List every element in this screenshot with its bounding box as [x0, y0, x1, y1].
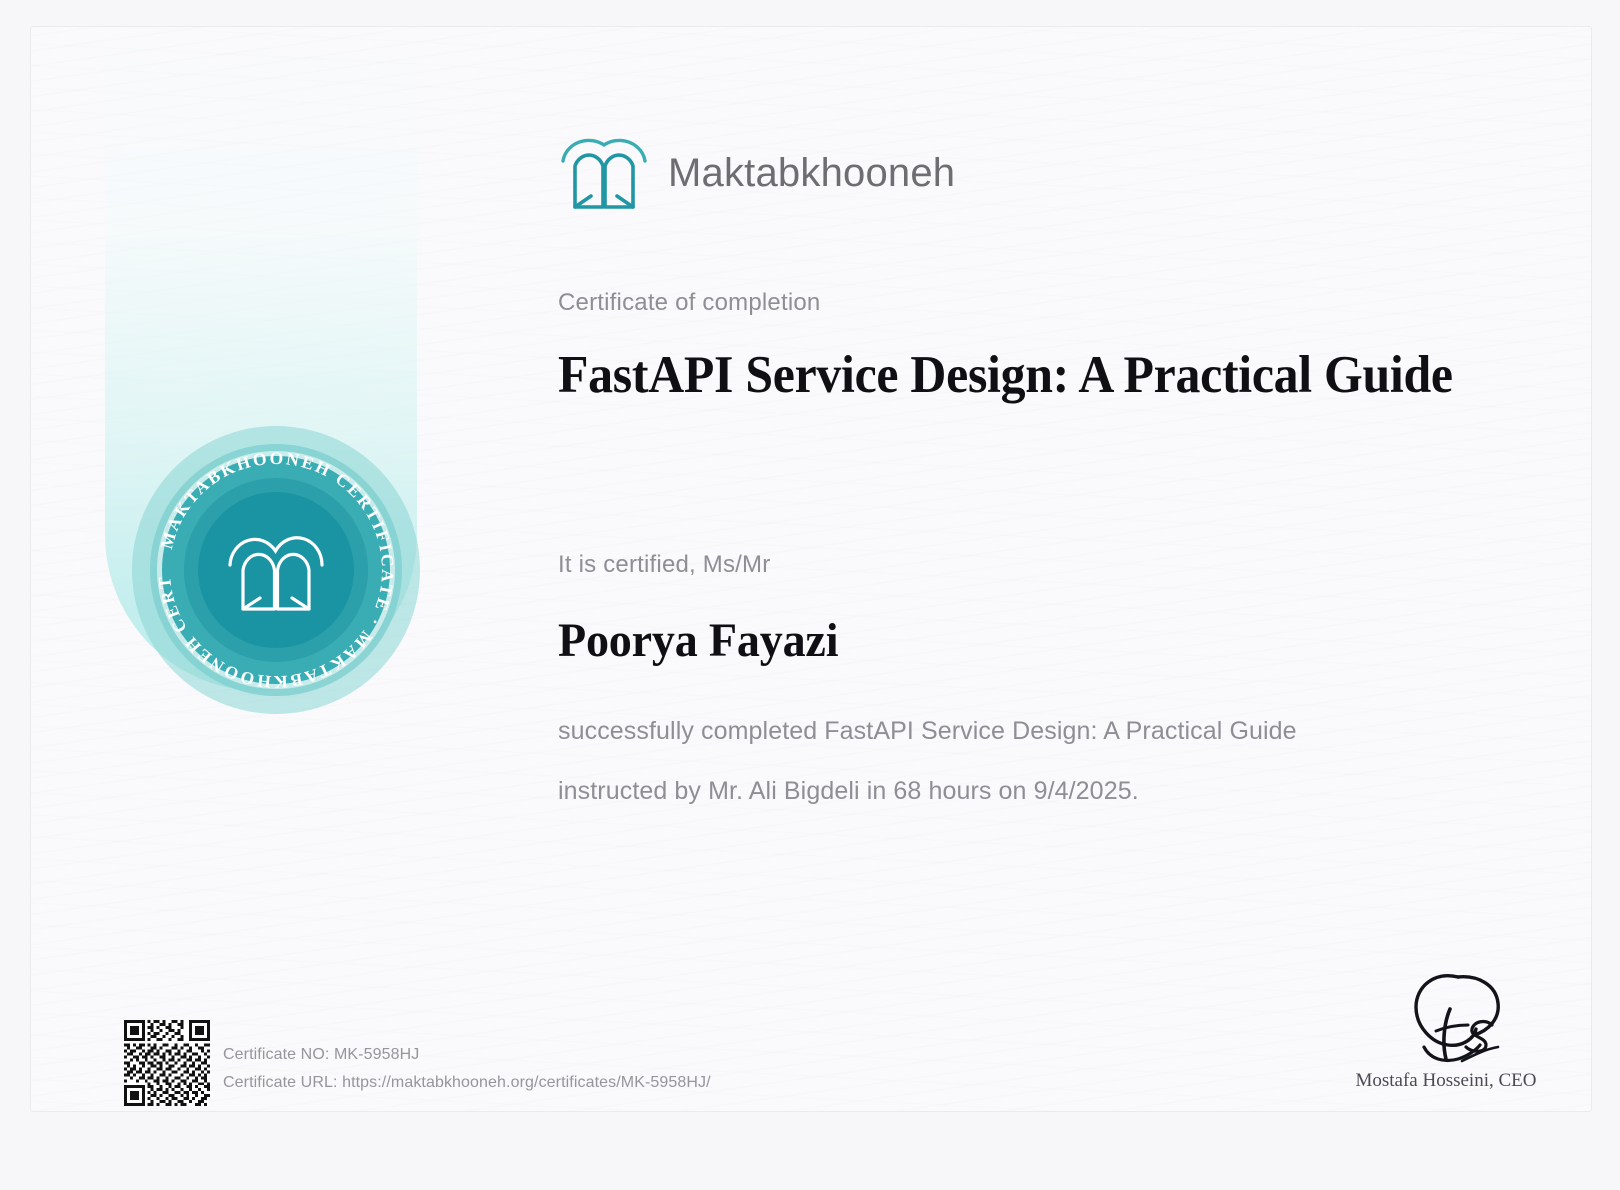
qr-code-icon[interactable] [124, 1020, 210, 1106]
signature-block: Mostafa Hosseini, CEO [1321, 943, 1571, 1092]
brand-wordmark: Maktabkhooneh [668, 151, 955, 196]
certificate-meta: Certificate NO: MK-5958HJ Certificate UR… [223, 1041, 711, 1097]
certified-label: It is certified, Ms/Mr [558, 551, 770, 579]
course-title: FastAPI Service Design: A Practical Guid… [558, 345, 1453, 405]
completion-line-2: instructed by Mr. Ali Bigdeli in 68 hour… [558, 777, 1139, 806]
completion-line-1: successfully completed FastAPI Service D… [558, 717, 1297, 746]
certificate-page: MAKTABKHOONEH CERTIFICATE · MAKTABKHOONE… [0, 0, 1620, 1190]
certificate-subtitle: Certificate of completion [558, 289, 820, 317]
open-book-mark-icon [558, 135, 650, 211]
brand-logo: Maktabkhooneh [558, 135, 955, 211]
handwritten-signature-icon [1346, 943, 1546, 1068]
certificate-number-line: Certificate NO: MK-5958HJ [223, 1041, 711, 1069]
recipient-name: Poorya Fayazi [558, 613, 838, 668]
certificate-url-line[interactable]: Certificate URL: https://maktabkhooneh.o… [223, 1069, 711, 1097]
certificate-card: MAKTABKHOONEH CERTIFICATE · MAKTABKHOONE… [30, 26, 1592, 1112]
signature-caption: Mostafa Hosseini, CEO [1321, 1070, 1571, 1092]
certificate-seal: MAKTABKHOONEH CERTIFICATE · MAKTABKHOONE… [131, 425, 421, 715]
